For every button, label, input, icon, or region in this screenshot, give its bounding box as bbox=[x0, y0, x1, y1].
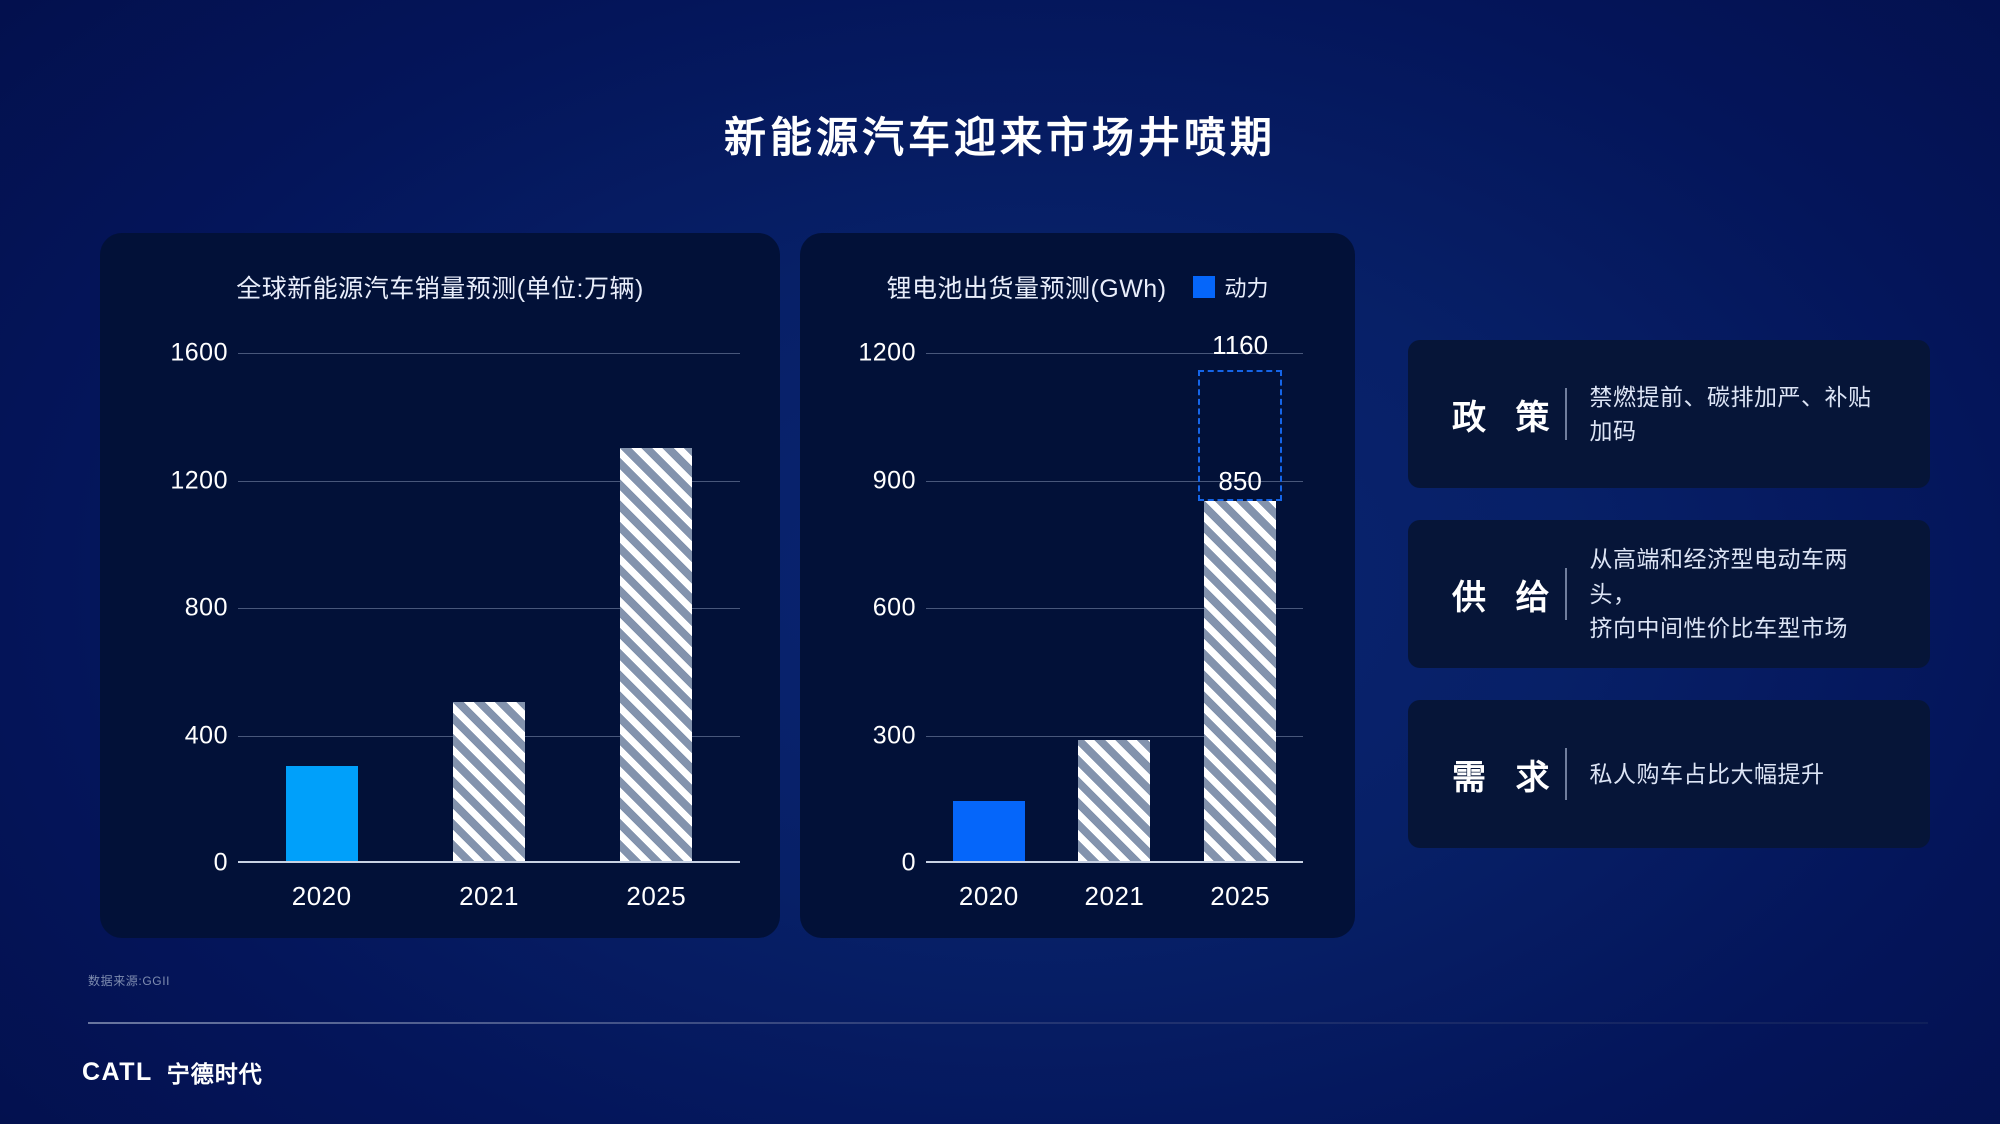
y-tick-label: 1200 bbox=[170, 466, 228, 495]
y-tick-label: 1600 bbox=[170, 339, 228, 368]
bar-2021[interactable] bbox=[453, 702, 525, 861]
page-title: 新能源汽车迎来市场井喷期 bbox=[0, 104, 2000, 165]
y-tick-label: 900 bbox=[858, 466, 916, 495]
bar-slot bbox=[405, 353, 572, 861]
insight-card-text: 禁燃提前、碳排加严、补贴加码 bbox=[1589, 380, 1886, 449]
y-tick-label: 300 bbox=[858, 721, 916, 750]
bar-slot bbox=[238, 353, 405, 861]
brand-logo: CATL 宁德时代 bbox=[82, 1055, 263, 1089]
x-axis-labels-battery-shipment: 2020 2021 2025 bbox=[926, 863, 1303, 912]
divider bbox=[1565, 568, 1567, 620]
y-tick-label: 800 bbox=[170, 594, 228, 623]
x-tick-label: 2025 bbox=[573, 881, 740, 912]
insight-card-text: 从高端和经济型电动车两头， 挤向中间性价比车型市场 bbox=[1589, 542, 1886, 646]
bar-slot bbox=[1052, 353, 1178, 861]
legend-swatch-icon bbox=[1193, 276, 1215, 298]
bar-2020[interactable] bbox=[953, 801, 1025, 861]
bar-group-ev-sales bbox=[238, 353, 740, 861]
legend-label: 动力 bbox=[1225, 271, 1269, 303]
insight-card-text: 私人购车占比大幅提升 bbox=[1589, 757, 1824, 792]
x-tick-label: 2020 bbox=[926, 881, 1052, 912]
y-tick-label: 600 bbox=[858, 594, 916, 623]
source-note: 数据来源:GGII bbox=[88, 972, 170, 989]
bar-slot bbox=[573, 353, 740, 861]
plot-area-battery-shipment: 1200 900 600 300 0 bbox=[858, 353, 1303, 863]
plot-area-ev-sales: 1600 1200 800 400 0 bbox=[170, 353, 740, 863]
chart-panel-battery-shipment: 锂电池出货量预测(GWh) 动力 1200 900 600 300 0 bbox=[800, 233, 1355, 938]
y-tick-label: 400 bbox=[170, 721, 228, 750]
x-tick-label: 2021 bbox=[1052, 881, 1178, 912]
chart-title-battery-shipment: 锂电池出货量预测(GWh) bbox=[886, 269, 1166, 305]
chart-panel-ev-sales: 全球新能源汽车销量预测(单位:万辆) 1600 1200 800 400 0 bbox=[100, 233, 780, 938]
x-tick-label: 2020 bbox=[238, 881, 405, 912]
bar-value-label-2025: 850 bbox=[1218, 466, 1261, 497]
bar-group-battery-shipment: 1160 850 bbox=[926, 353, 1303, 861]
insight-card-key: 需 求 bbox=[1452, 750, 1559, 799]
bar-2020[interactable] bbox=[286, 766, 358, 861]
bar-slot bbox=[926, 353, 1052, 861]
y-tick-label: 0 bbox=[858, 849, 916, 878]
insight-card-key: 政 策 bbox=[1452, 390, 1559, 439]
insight-card-policy[interactable]: 政 策 禁燃提前、碳排加严、补贴加码 bbox=[1408, 340, 1930, 488]
chart-header-left: 全球新能源汽车销量预测(单位:万辆) bbox=[100, 269, 780, 305]
brand-logo-latin: CATL bbox=[82, 1058, 153, 1087]
bar-2025[interactable] bbox=[1204, 501, 1276, 861]
bar-slot: 1160 850 bbox=[1177, 353, 1303, 861]
x-axis-labels-ev-sales: 2020 2021 2025 bbox=[238, 863, 740, 912]
chart-header-right: 锂电池出货量预测(GWh) 动力 bbox=[800, 269, 1355, 305]
chart-title-ev-sales: 全球新能源汽车销量预测(单位:万辆) bbox=[236, 269, 644, 305]
forecast-extension-box: 1160 850 bbox=[1198, 370, 1282, 501]
y-tick-label: 0 bbox=[170, 849, 228, 878]
footer-divider bbox=[88, 1022, 1928, 1024]
brand-logo-cn: 宁德时代 bbox=[167, 1055, 263, 1089]
bar-2021[interactable] bbox=[1078, 740, 1150, 861]
insight-card-demand[interactable]: 需 求 私人购车占比大幅提升 bbox=[1408, 700, 1930, 848]
divider bbox=[1565, 388, 1567, 440]
x-tick-label: 2021 bbox=[405, 881, 572, 912]
insight-card-key: 供 给 bbox=[1452, 570, 1559, 619]
chart-legend: 动力 bbox=[1193, 271, 1269, 303]
insight-card-supply[interactable]: 供 给 从高端和经济型电动车两头， 挤向中间性价比车型市场 bbox=[1408, 520, 1930, 668]
insight-card-list: 政 策 禁燃提前、碳排加严、补贴加码 供 给 从高端和经济型电动车两头， 挤向中… bbox=[1408, 340, 1930, 848]
bar-2025[interactable] bbox=[620, 448, 692, 861]
x-tick-label: 2025 bbox=[1177, 881, 1303, 912]
divider bbox=[1565, 748, 1567, 800]
forecast-value-label: 1160 bbox=[1212, 330, 1268, 361]
y-tick-label: 1200 bbox=[858, 339, 916, 368]
